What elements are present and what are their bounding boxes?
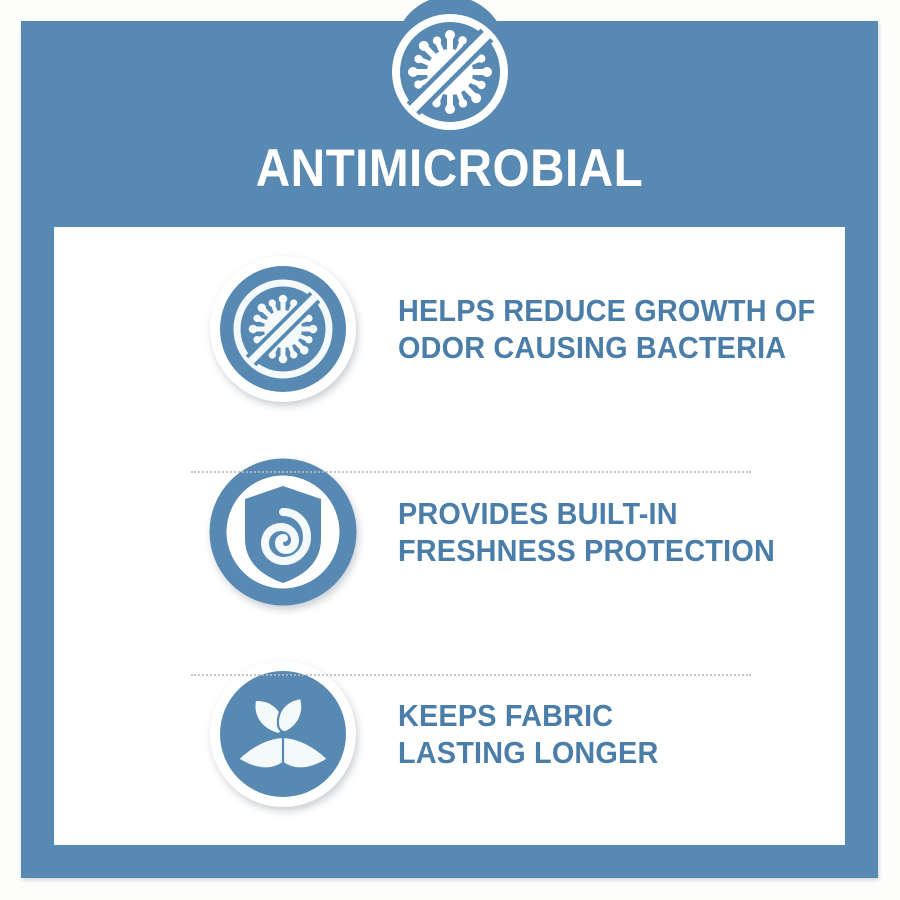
infographic-canvas: ANTIMICROBIAL	[0, 0, 900, 900]
list-item-label-line1: HELPS REDUCE GROWTH OF	[398, 292, 815, 329]
bordered-card-frame: ANTIMICROBIAL	[21, 21, 878, 878]
list-item-label: HELPS REDUCE GROWTH OF ODOR CAUSING BACT…	[398, 292, 815, 366]
list-divider	[191, 471, 751, 473]
page-title: ANTIMICROBIAL	[64, 141, 835, 197]
list-item-label-line2: ODOR CAUSING BACTERIA	[398, 329, 815, 366]
list-item-label-line2: LASTING LONGER	[398, 734, 814, 771]
list-item-label: PROVIDES BUILT-IN FRESHNESS PROTECTION	[398, 495, 814, 569]
feature-list: HELPS REDUCE GROWTH OF ODOR CAUSING BACT…	[54, 227, 845, 845]
list-item-label-line2: FRESHNESS PROTECTION	[398, 532, 814, 569]
content-panel: HELPS REDUCE GROWTH OF ODOR CAUSING BACT…	[54, 227, 845, 845]
list-item-label-line1: KEEPS FABRIC	[398, 697, 814, 734]
list-item: KEEPS FABRIC LASTING LONGER	[54, 639, 845, 829]
list-divider	[191, 674, 751, 676]
shield-swirl-icon	[208, 457, 358, 607]
no-germs-icon	[388, 10, 512, 134]
leaf-fabric-icon	[208, 659, 358, 809]
list-item-label-line1: PROVIDES BUILT-IN	[398, 495, 814, 532]
list-item: PROVIDES BUILT-IN FRESHNESS PROTECTION	[54, 437, 845, 627]
list-item-label: KEEPS FABRIC LASTING LONGER	[398, 697, 814, 771]
header-band: ANTIMICROBIAL	[21, 21, 878, 227]
list-item: HELPS REDUCE GROWTH OF ODOR CAUSING BACT…	[54, 234, 845, 424]
no-germs-badge-icon	[208, 254, 358, 404]
